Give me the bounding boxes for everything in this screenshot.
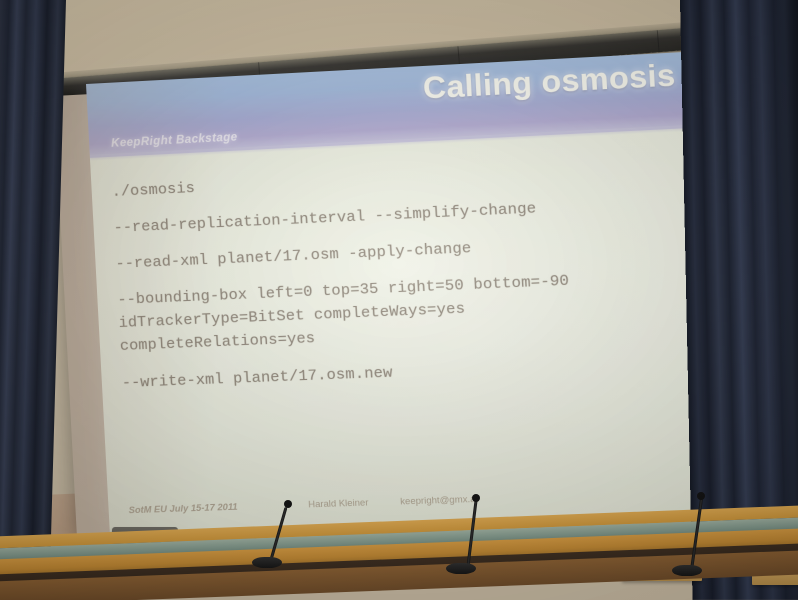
microphone-head	[284, 500, 292, 508]
code-line: --write-xml planet/17.osm.new	[121, 349, 700, 395]
footer-event-label: SotM EU July 15-17 2011	[128, 502, 237, 516]
microphone-base	[446, 563, 476, 574]
microphone-head	[697, 492, 705, 500]
microphone-base	[672, 565, 702, 576]
microphone-head	[472, 494, 480, 502]
slide-title: Calling osmosis	[422, 57, 676, 107]
footer-email-label: keepright@gmx.at	[400, 494, 478, 507]
lecture-hall-photo: Calling osmosis KeepRight Backstage ./os…	[0, 0, 798, 600]
slide-kicker-label: KeepRight Backstage	[111, 131, 238, 149]
microphone-base	[252, 557, 282, 568]
footer-author-label: Harald Kleiner	[308, 497, 369, 509]
projected-slide: Calling osmosis KeepRight Backstage ./os…	[86, 51, 727, 532]
slide-code-block: ./osmosis --read-replication-interval --…	[90, 127, 724, 486]
